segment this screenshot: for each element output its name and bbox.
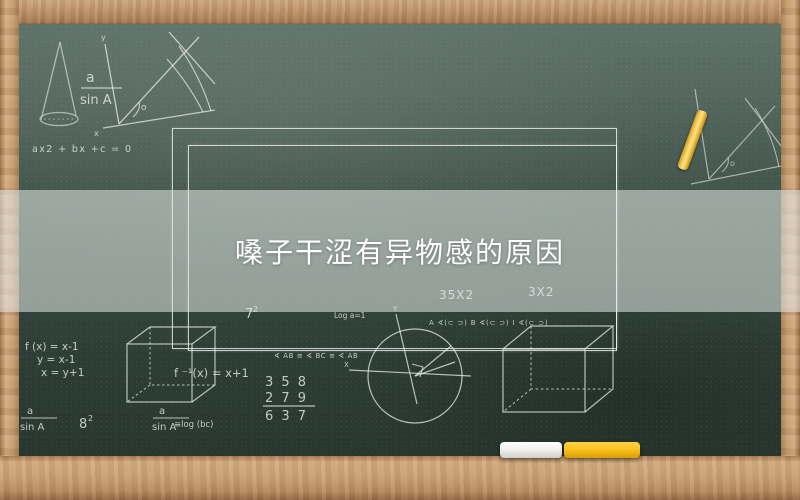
- digits-row-2: 2 7 9: [265, 391, 308, 406]
- yellow-chalk-stick-icon: [677, 109, 709, 171]
- function-lines-group: f (x) = x-1 y = x-1 x = y+1: [25, 341, 84, 379]
- exponent-8-sup: 2: [88, 414, 93, 423]
- fx-line-1: f (x) = x-1: [25, 341, 79, 353]
- yellow-chalk-piece-icon: [564, 442, 640, 458]
- frame-top-rail: [0, 0, 800, 24]
- log-bc-note: ≡log (bc): [174, 420, 213, 430]
- angle-congruence-left: ∢ AB ≅ ∢ BC ≅ ∢ AB: [274, 352, 358, 360]
- axis-x-label-top: x: [94, 129, 99, 138]
- fx-line-3: x = y+1: [41, 367, 84, 379]
- inverse-function: f ⁻¹(x) = x+1: [174, 366, 249, 380]
- cube-right-drawing: [503, 326, 613, 412]
- axis-x-label-right: X: [344, 361, 349, 369]
- fraction-denominator-sina: sin A: [80, 93, 112, 108]
- digits-row-3: 6 3 7: [265, 409, 308, 424]
- frac-sina-1: sin A: [20, 422, 45, 433]
- exponent-8: 8: [79, 417, 87, 432]
- digit-column-group: 3 5 8 2 7 9 6 3 7: [263, 375, 315, 424]
- log-a1-note: Log a=1: [334, 311, 366, 320]
- angle-label-o-right: o: [730, 159, 735, 168]
- axis-y-label-top: y: [101, 33, 106, 42]
- cube-left-drawing: [127, 327, 215, 402]
- title-overlay-band: 嗓子干涩有异物感的原因: [0, 190, 800, 312]
- angle-axes-drawing: y x o: [94, 32, 215, 138]
- frame-bottom-tray: [0, 456, 800, 500]
- frac-sina-2: sin A: [152, 422, 177, 433]
- quadratic-equation: ax2 + bx +c = 0: [32, 144, 132, 155]
- chalkboard-scene: a sin A y x o ax2 + bx +c = 0: [0, 0, 800, 500]
- cone-drawing: [40, 42, 78, 126]
- congruence-right: A ∢(⊂ ⊃) B ∢(⊂ ⊃) I ∢(⊂ ⊃): [429, 319, 548, 327]
- digits-row-1: 3 5 8: [265, 375, 308, 390]
- frac-a-1: a: [27, 406, 33, 417]
- frac-a-2: a: [159, 406, 165, 417]
- page-title: 嗓子干涩有异物感的原因: [235, 231, 565, 271]
- fx-line-2: y = x-1: [37, 354, 75, 366]
- angle-axes-drawing-right: o: [691, 89, 781, 184]
- white-chalk-piece-icon: [500, 442, 562, 458]
- fraction-numerator-a: a: [86, 70, 95, 86]
- circle-axes-drawing: Y X: [344, 305, 471, 423]
- angle-label-o: o: [141, 103, 147, 113]
